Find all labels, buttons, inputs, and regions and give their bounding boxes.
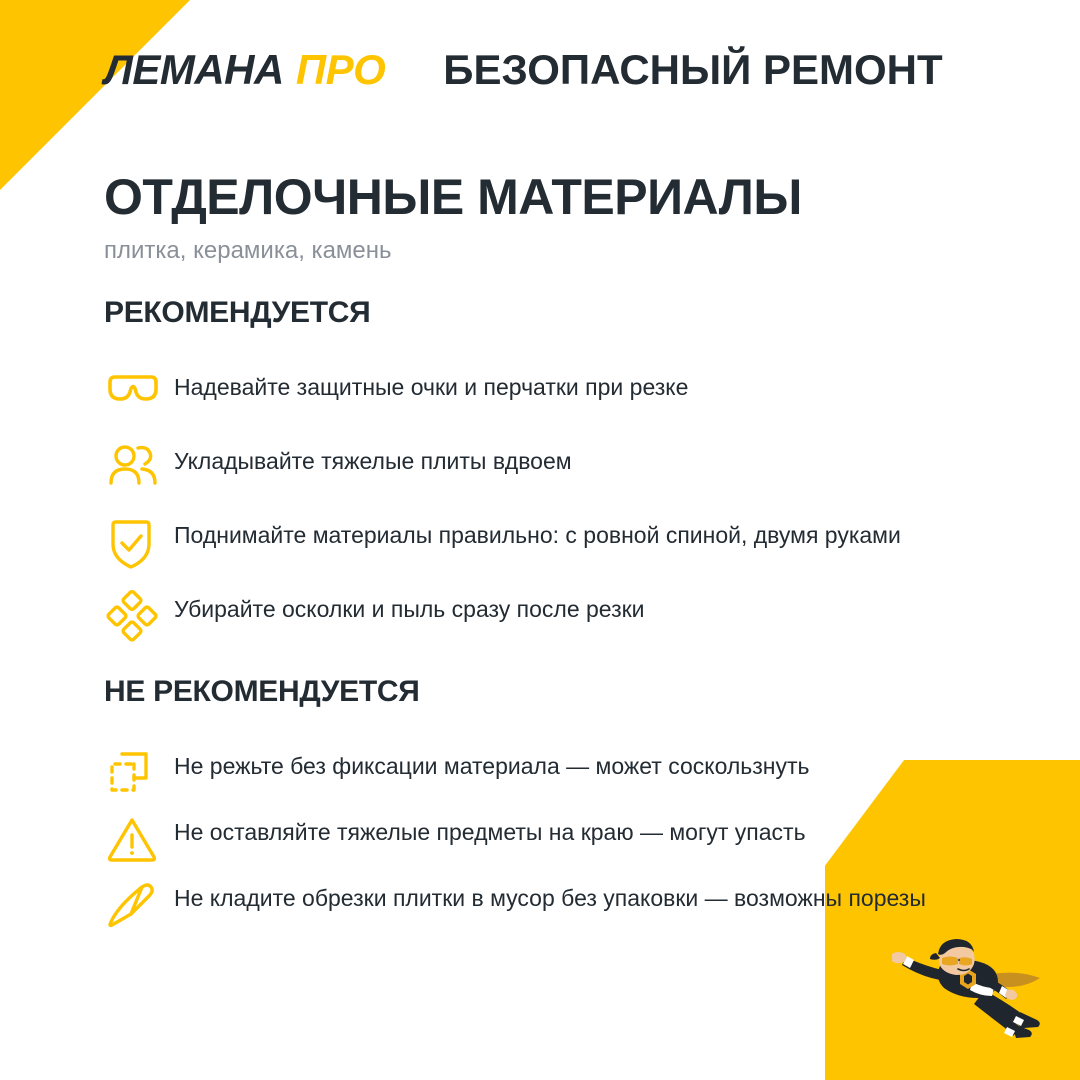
list-item: Надевайте защитные очки и перчатки при р…	[104, 368, 1004, 420]
warning-triangle-icon	[104, 813, 174, 865]
list-item-text: Не кладите обрезки плитки в мусор без уп…	[174, 879, 926, 915]
page-title: ОТДЕЛОЧНЫЕ МАТЕРИАЛЫ	[104, 170, 984, 225]
title-block: ОТДЕЛОЧНЫЕ МАТЕРИАЛЫ плитка, керамика, к…	[104, 170, 984, 266]
logo-primary-text: ЛЕМАНА	[104, 46, 284, 93]
list-item-text: Убирайте осколки и пыль сразу после резк…	[174, 590, 645, 626]
list-item-text: Укладывайте тяжелые плиты вдвоем	[174, 442, 572, 478]
logo-accent-text: ПРО	[296, 46, 385, 93]
shield-check-icon	[104, 516, 174, 568]
section-recommended: РЕКОМЕНДУЕТСЯ Надевайте защитные очки и …	[104, 296, 1004, 664]
four-diamonds-icon	[104, 590, 174, 642]
list-item: Укладывайте тяжелые плиты вдвоем	[104, 442, 1004, 494]
list-item: Не режьте без фиксации материала — может…	[104, 747, 1004, 799]
section-heading-recommended: РЕКОМЕНДУЕТСЯ	[104, 296, 1004, 330]
brand-logo: ЛЕМАНАПРО	[104, 46, 385, 94]
list-item-text: Не оставляйте тяжелые предметы на краю —…	[174, 813, 806, 849]
poster-header: ЛЕМАНАПРО БЕЗОПАСНЫЙ РЕМОНТ	[0, 0, 1080, 140]
list-item: Не кладите обрезки плитки в мусор без уп…	[104, 879, 1004, 931]
list-item-text: Надевайте защитные очки и перчатки при р…	[174, 368, 688, 404]
list-item-text: Поднимайте материалы правильно: с ровной…	[174, 516, 901, 552]
unfixed-square-icon	[104, 747, 174, 799]
safety-goggles-icon	[104, 368, 174, 420]
flying-superhero-mascot	[880, 928, 1060, 1048]
knife-icon	[104, 879, 174, 931]
list-item: Не оставляйте тяжелые предметы на краю —…	[104, 813, 1004, 865]
list-item: Убирайте осколки и пыль сразу после резк…	[104, 590, 1004, 642]
campaign-title: БЕЗОПАСНЫЙ РЕМОНТ	[443, 46, 942, 94]
page-subtitle: плитка, керамика, камень	[104, 237, 984, 266]
list-item-text: Не режьте без фиксации материала — может…	[174, 747, 810, 783]
section-heading-not-recommended: НЕ РЕКОМЕНДУЕТСЯ	[104, 675, 1004, 709]
section-not-recommended: НЕ РЕКОМЕНДУЕТСЯ Не режьте без фиксации …	[104, 675, 1004, 945]
safety-poster: ЛЕМАНАПРО БЕЗОПАСНЫЙ РЕМОНТ ОТДЕЛОЧНЫЕ М…	[0, 0, 1080, 1080]
two-people-icon	[104, 442, 174, 494]
list-item: Поднимайте материалы правильно: с ровной…	[104, 516, 1004, 568]
